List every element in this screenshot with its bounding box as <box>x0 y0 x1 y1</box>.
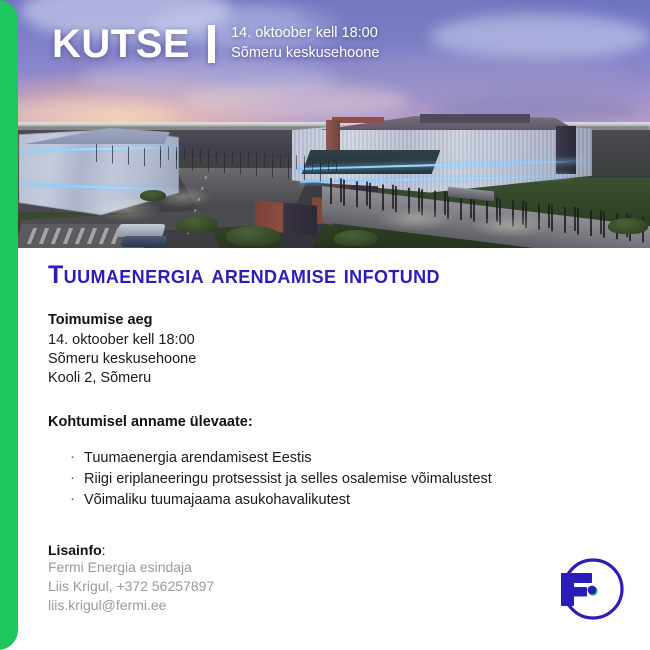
logo-dot-blue-icon <box>588 586 597 595</box>
hero-title: KUTSE <box>52 24 190 64</box>
hero-subtitle-line-2: Sõmeru keskusehoone <box>231 44 379 64</box>
shrub <box>176 216 218 233</box>
green-accent-bar <box>0 0 18 650</box>
logo-icon <box>550 550 628 628</box>
event-time-block: Toimumise aeg 14. oktoober kell 18:00 Sõ… <box>48 312 650 388</box>
event-venue-line: Sõmeru keskusehoone <box>48 350 650 369</box>
overview-list: Tuumaenergia arendamisest Eestis Riigi e… <box>48 448 650 510</box>
event-time-line: 14. oktoober kell 18:00 <box>48 331 650 350</box>
parked-car <box>121 236 168 247</box>
shrub <box>334 230 378 246</box>
shrub <box>608 218 648 234</box>
event-time-label: Toimumise aeg <box>48 312 650 328</box>
lamp-light-pool <box>470 214 550 238</box>
logo-letter-f-icon <box>561 573 592 606</box>
crosswalk-markings <box>27 228 129 244</box>
list-item: Tuumaenergia arendamisest Eestis <box>70 448 504 468</box>
invitation-poster: KUTSE 14. oktoober kell 18:00 Sõmeru kes… <box>0 0 650 650</box>
lamp-light-pool <box>376 206 456 232</box>
page-title: Tuumaenergia arendamise infotund <box>48 262 650 290</box>
overview-block: Kohtumisel anname ülevaate: Tuumaenergia… <box>48 414 650 510</box>
overview-heading: Kohtumisel anname ülevaate: <box>48 414 650 430</box>
hero-subtitle: 14. oktoober kell 18:00 Sõmeru keskuseho… <box>231 24 379 63</box>
roof-equipment <box>420 114 530 123</box>
list-item: Riigi eriplaneeringu protsessist ja sell… <box>70 469 504 489</box>
hero-subtitle-line-1: 14. oktoober kell 18:00 <box>231 24 379 44</box>
fermi-energia-logo <box>550 550 628 628</box>
shrub <box>226 226 280 246</box>
contact-label: Lisainfo <box>48 542 102 558</box>
hero-image: KUTSE 14. oktoober kell 18:00 Sõmeru kes… <box>0 0 650 248</box>
contact-label-colon: : <box>102 542 106 558</box>
shrub <box>140 190 166 201</box>
event-address-line: Kooli 2, Sõmeru <box>48 369 650 388</box>
list-item: Võimaliku tuumajaama asukohavalikutest <box>70 490 504 510</box>
hero-text-block: KUTSE 14. oktoober kell 18:00 Sõmeru kes… <box>52 24 379 64</box>
dark-tower <box>556 126 576 174</box>
hero-divider <box>208 25 215 63</box>
